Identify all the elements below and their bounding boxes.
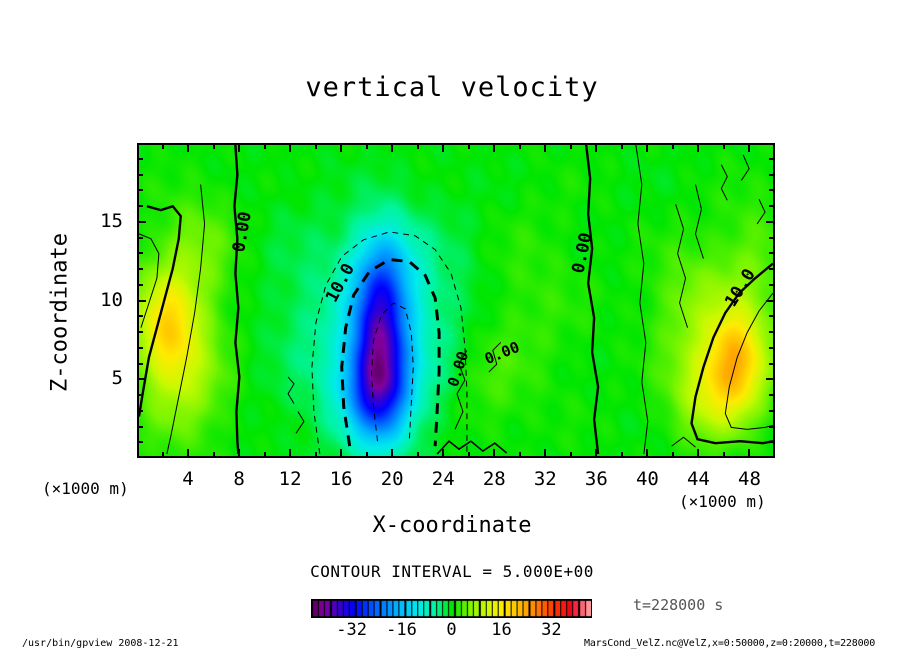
contour-plot-area[interactable] [137,143,775,458]
x-tick [748,449,750,458]
x-axis-title: X-coordinate [0,513,904,538]
y-tick [137,363,143,365]
x-tick [570,452,572,458]
y-tick-right [769,315,775,317]
y-tick-right [766,300,775,302]
x-tick [468,452,470,458]
y-tick-right [766,221,775,223]
x-tick-top [468,143,470,149]
y-tick-right [769,410,775,412]
x-tick [340,449,342,458]
x-tick-top [519,143,521,149]
y-tick [137,205,143,207]
y-tick-right [769,268,775,270]
y-tick-right [769,426,775,428]
x-tick [519,452,521,458]
y-tick [137,300,146,302]
x-tick-top [621,143,623,149]
x-tick-top [213,143,215,149]
x-tick-top [315,143,317,149]
x-tick [697,449,699,458]
x-tick [621,452,623,458]
x-tick [544,449,546,458]
x-tick-top [595,143,597,152]
y-tick [137,221,146,223]
x-tick [672,452,674,458]
x-tick-top [340,143,342,152]
y-tick [137,237,143,239]
y-tick-right [769,252,775,254]
x-tick [417,452,419,458]
y-tick-right [769,237,775,239]
y-tick-right [769,284,775,286]
x-tick-top [672,143,674,149]
y-tick [137,410,143,412]
y-tick [137,441,143,443]
x-tick-top [417,143,419,149]
footer-dataset: MarsCond_VelZ.nc@VelZ,x=0:50000,z=0:2000… [584,638,875,649]
colorbar-gradient [311,599,592,618]
contour-interval-caption: CONTOUR INTERVAL = 5.000E+00 [0,562,904,581]
y-tick [137,189,143,191]
x-tick-top [748,143,750,152]
y-tick-right [769,347,775,349]
y-tick-right [769,158,775,160]
x-tick-top [544,143,546,152]
x-tick-top [442,143,444,152]
x-tick [442,449,444,458]
y-tick-right [769,331,775,333]
colorbar[interactable] [311,599,592,618]
y-tick-right [769,363,775,365]
y-axis-title: Z-coordinate [48,213,73,413]
x-tick [289,449,291,458]
y-tick [137,158,143,160]
x-tick-top [723,143,725,149]
x-tick-top [238,143,240,152]
colorbar-tick-label: 32 [521,620,581,640]
x-tick-top [570,143,572,149]
contour-lines [139,145,773,456]
x-tick-top [264,143,266,149]
x-tick [187,449,189,458]
x-tick [391,449,393,458]
y-tick-right [769,441,775,443]
y-tick-right [769,394,775,396]
x-tick-top [493,143,495,152]
y-tick [137,252,143,254]
y-tick [137,174,143,176]
y-tick [137,268,143,270]
x-tick [238,449,240,458]
y-tick-right [769,174,775,176]
x-tick [366,452,368,458]
x-tick [315,452,317,458]
x-unit-left: (×1000 m) [42,479,129,498]
y-tick [137,284,143,286]
time-label: t=228000 s [633,596,723,614]
x-tick-top [697,143,699,152]
x-tick-label: 48 [719,468,779,490]
x-tick-top [187,143,189,152]
y-tick [137,394,143,396]
page-title: vertical velocity [0,72,904,103]
y-tick-right [766,378,775,380]
x-tick-top [366,143,368,149]
x-unit-right: (×1000 m) [679,492,766,511]
y-tick-right [769,189,775,191]
x-tick [646,449,648,458]
x-tick [264,452,266,458]
x-tick [723,452,725,458]
y-tick [137,347,143,349]
x-tick [213,452,215,458]
x-tick-top [289,143,291,152]
x-tick [162,452,164,458]
x-tick-top [391,143,393,152]
x-tick [493,449,495,458]
x-tick-top [162,143,164,149]
x-tick [595,449,597,458]
x-tick-top [646,143,648,152]
footer-command: /usr/bin/gpview 2008-12-21 [22,638,179,649]
y-tick [137,331,143,333]
y-tick [137,378,146,380]
y-tick [137,426,143,428]
y-tick-right [769,205,775,207]
y-tick [137,315,143,317]
